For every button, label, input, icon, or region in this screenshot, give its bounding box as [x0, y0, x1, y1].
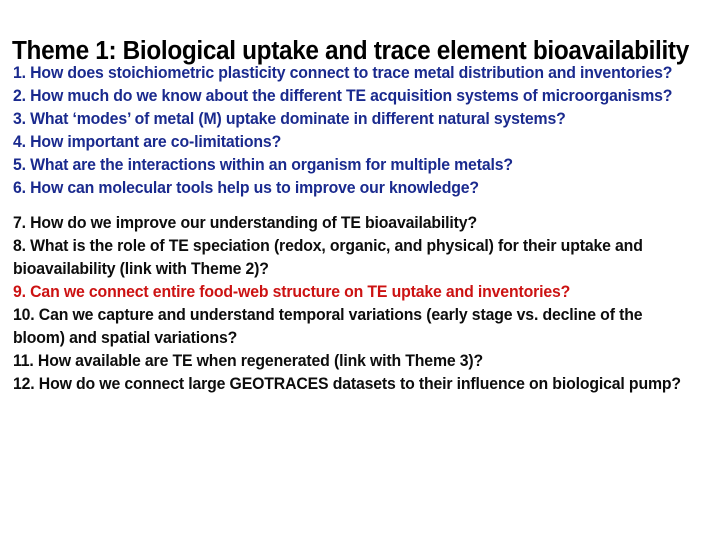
question-item-5: 5. What are the interactions within an o… [13, 154, 689, 177]
slide-canvas: Theme 1: Biological uptake and trace ele… [0, 0, 720, 540]
question-item-10: 10. Can we capture and understand tempor… [13, 304, 689, 350]
question-item-7: 7. How do we improve our understanding o… [13, 212, 689, 235]
question-item-8: 8. What is the role of TE speciation (re… [13, 235, 689, 281]
question-item-6: 6. How can molecular tools help us to im… [13, 177, 689, 200]
questions-group-one: 1. How does stoichiometric plasticity co… [13, 62, 713, 201]
questions-group-two: 7. How do we improve our understanding o… [13, 212, 713, 397]
question-item-9: 9. Can we connect entire food-web struct… [13, 281, 689, 304]
question-item-11: 11. How available are TE when regenerate… [13, 350, 689, 373]
question-list-container: 1. How does stoichiometric plasticity co… [13, 62, 713, 396]
question-item-3: 3. What ‘modes’ of metal (M) uptake domi… [13, 108, 689, 131]
question-item-12: 12. How do we connect large GEOTRACES da… [13, 373, 689, 396]
question-item-1: 1. How does stoichiometric plasticity co… [13, 62, 689, 85]
question-item-2: 2. How much do we know about the differe… [13, 85, 689, 108]
question-item-4: 4. How important are co-limitations? [13, 131, 689, 154]
